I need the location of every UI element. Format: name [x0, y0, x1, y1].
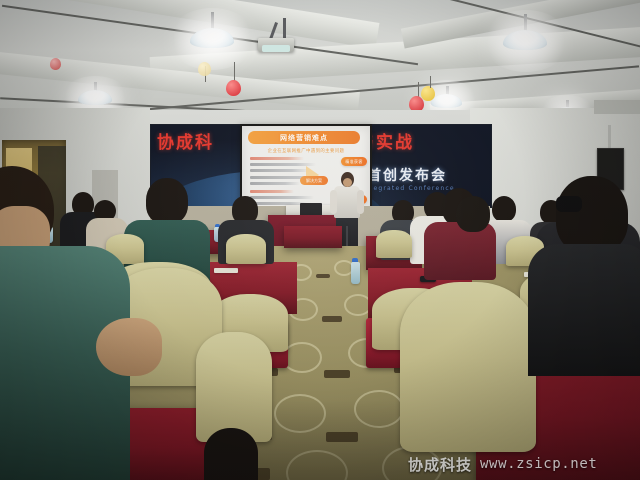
- audience-head: [146, 178, 188, 224]
- balloon-red: [226, 80, 241, 96]
- banner-subtitle-en: IT Integrated Conference: [351, 185, 491, 192]
- presenter-arm: [330, 190, 337, 214]
- chair[interactable]: [376, 230, 412, 258]
- banner-title-left: 协成科: [157, 128, 214, 153]
- audience-body: [424, 222, 496, 280]
- foreground-body-right: [528, 244, 640, 376]
- foreground-head-right: [556, 176, 628, 254]
- balloon-red: [50, 58, 61, 70]
- water-bottle: [351, 262, 360, 284]
- paper-sheet: [214, 268, 238, 273]
- slide-bullet: [250, 157, 304, 160]
- glasses-icon: [556, 196, 582, 212]
- watermark-url: www.zsicp.net: [480, 456, 597, 472]
- chair-front-center[interactable]: [196, 332, 272, 442]
- watermark: 协成科技 www.zsicp.net: [408, 452, 636, 476]
- slide-header-bar: 网络营销难点: [248, 131, 360, 144]
- slide-bullet: [250, 169, 310, 172]
- slide-pill: 精准获客: [341, 157, 367, 166]
- speaker-mount: [608, 125, 611, 150]
- slide-bullet: [250, 182, 300, 185]
- slide-bullet: [250, 190, 294, 193]
- lamp-glow: [168, 8, 256, 70]
- projector-lens: [262, 45, 290, 52]
- audience-head: [492, 196, 516, 222]
- carpet-dash: [324, 370, 350, 378]
- slide-bullet: [250, 196, 314, 199]
- slide-pill-center: 解决方案: [300, 176, 328, 185]
- presenter-face: [343, 178, 352, 187]
- audience-head: [456, 196, 490, 232]
- table-center-far: [284, 226, 342, 248]
- chair-front-right[interactable]: [400, 282, 536, 452]
- slide-subtitle: 企业在互联网推广中遇到的主要问题: [264, 148, 348, 154]
- carpet-dash: [322, 316, 342, 322]
- balloon-pale: [198, 62, 211, 76]
- photo-scene: 协成科 与实战 下首创发布会 IT Integrated Conference …: [0, 0, 640, 480]
- foreground-hand-left: [96, 318, 162, 376]
- lamp-glow: [482, 10, 570, 72]
- presenter-arm: [357, 190, 364, 214]
- slide-title: 网络营销难点: [280, 133, 328, 143]
- carpet-swirl: [282, 342, 322, 373]
- carpet-dash: [316, 274, 330, 278]
- foreground-head-center: [204, 428, 258, 480]
- balloon-string: [234, 62, 235, 82]
- chair[interactable]: [226, 234, 266, 264]
- balloon-string: [430, 76, 431, 88]
- balloon-yellow: [421, 86, 435, 101]
- air-vent: [594, 100, 640, 114]
- watermark-brand: 协成科技: [408, 454, 472, 475]
- banner-subtitle: 下首创发布会: [351, 165, 491, 185]
- projector-mount: [283, 18, 286, 40]
